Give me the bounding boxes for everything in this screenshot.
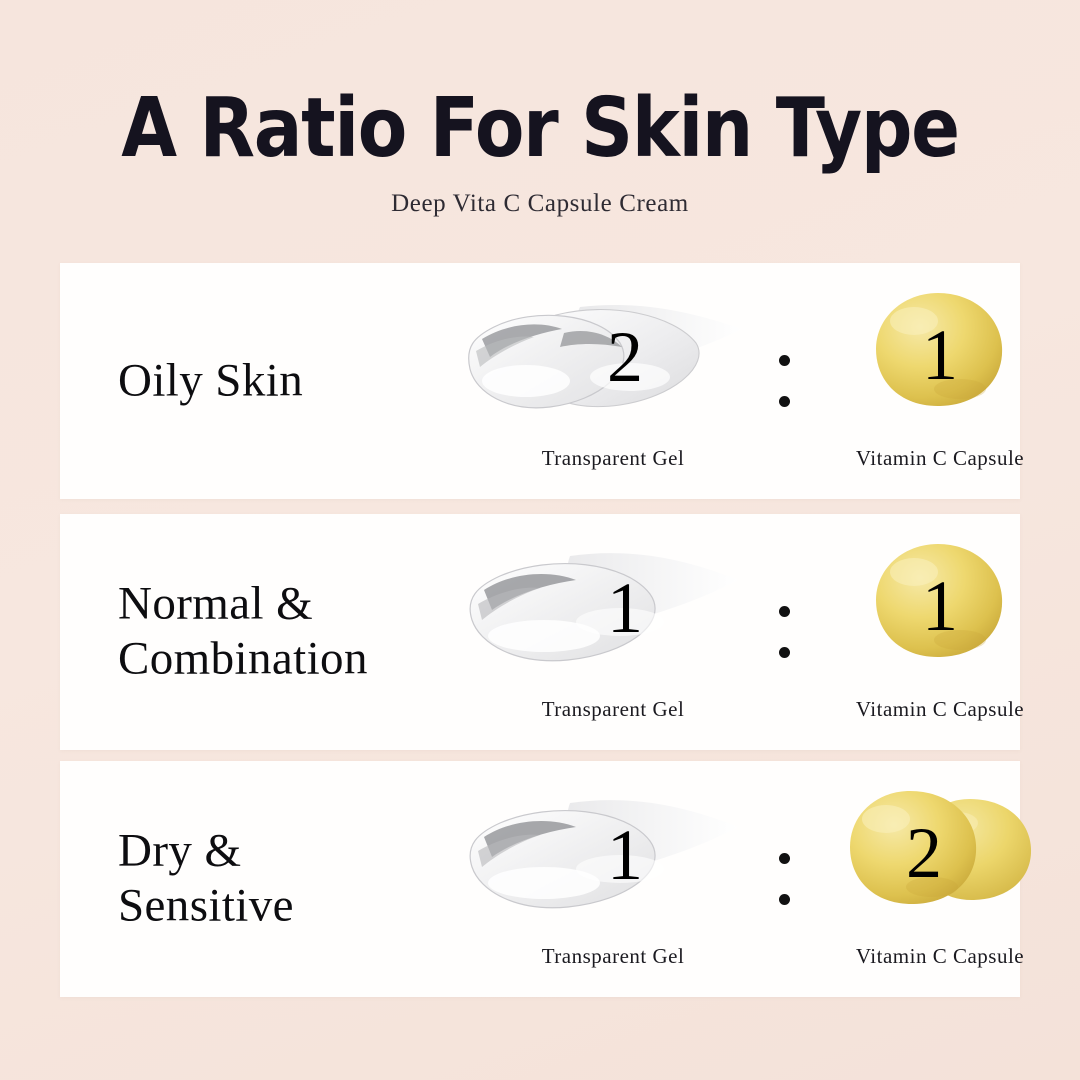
ratio-separator (779, 853, 795, 905)
capsule-ratio-number: 1 (922, 319, 958, 391)
colon-dot-top (779, 853, 790, 864)
transparent-gel-group: 1 Transparent Gel (460, 514, 770, 750)
ratio-separator (779, 606, 795, 658)
colon-dot-top (779, 606, 790, 617)
page-title: A Ratio For Skin Type (65, 88, 1015, 170)
colon-dot-bottom (779, 647, 790, 658)
skin-type-label: Dry & Sensitive (118, 824, 294, 935)
skin-type-label: Oily Skin (118, 353, 303, 408)
gel-caption: Transparent Gel (458, 446, 768, 471)
capsule-caption: Vitamin C Capsule (810, 944, 1070, 969)
colon-dot-bottom (779, 396, 790, 407)
ratio-card-normal-combination[interactable]: Normal & Combination (60, 514, 1020, 750)
gel-ratio-number: 1 (607, 819, 643, 891)
gel-ratio-number: 2 (607, 321, 643, 393)
transparent-gel-group: 2 Transparent Gel (460, 263, 770, 499)
ratio-separator (779, 355, 795, 407)
header: A Ratio For Skin Type Deep Vita C Capsul… (0, 88, 1080, 218)
skin-type-label: Normal & Combination (118, 577, 368, 688)
capsule-caption: Vitamin C Capsule (810, 697, 1070, 722)
capsule-ratio-number: 1 (922, 570, 958, 642)
gel-ratio-number: 1 (607, 572, 643, 644)
capsule-ratio-number: 2 (906, 817, 942, 889)
capsule-caption: Vitamin C Capsule (810, 446, 1070, 471)
vitamin-c-capsule-group: 2 Vitamin C Capsule (810, 761, 1070, 997)
vitamin-c-capsule-group: 1 Vitamin C Capsule (810, 514, 1070, 750)
transparent-gel-group: 1 Transparent Gel (460, 761, 770, 997)
ratio-card-oily-skin[interactable]: Oily Skin (60, 263, 1020, 499)
ratio-card-dry-sensitive[interactable]: Dry & Sensitive (60, 761, 1020, 997)
colon-dot-bottom (779, 894, 790, 905)
vitamin-c-capsule-group: 1 Vitamin C Capsule (810, 263, 1070, 499)
gel-caption: Transparent Gel (458, 697, 768, 722)
poster-background: A Ratio For Skin Type Deep Vita C Capsul… (0, 0, 1080, 1080)
gel-caption: Transparent Gel (458, 944, 768, 969)
colon-dot-top (779, 355, 790, 366)
page-subtitle: Deep Vita C Capsule Cream (0, 190, 1080, 218)
